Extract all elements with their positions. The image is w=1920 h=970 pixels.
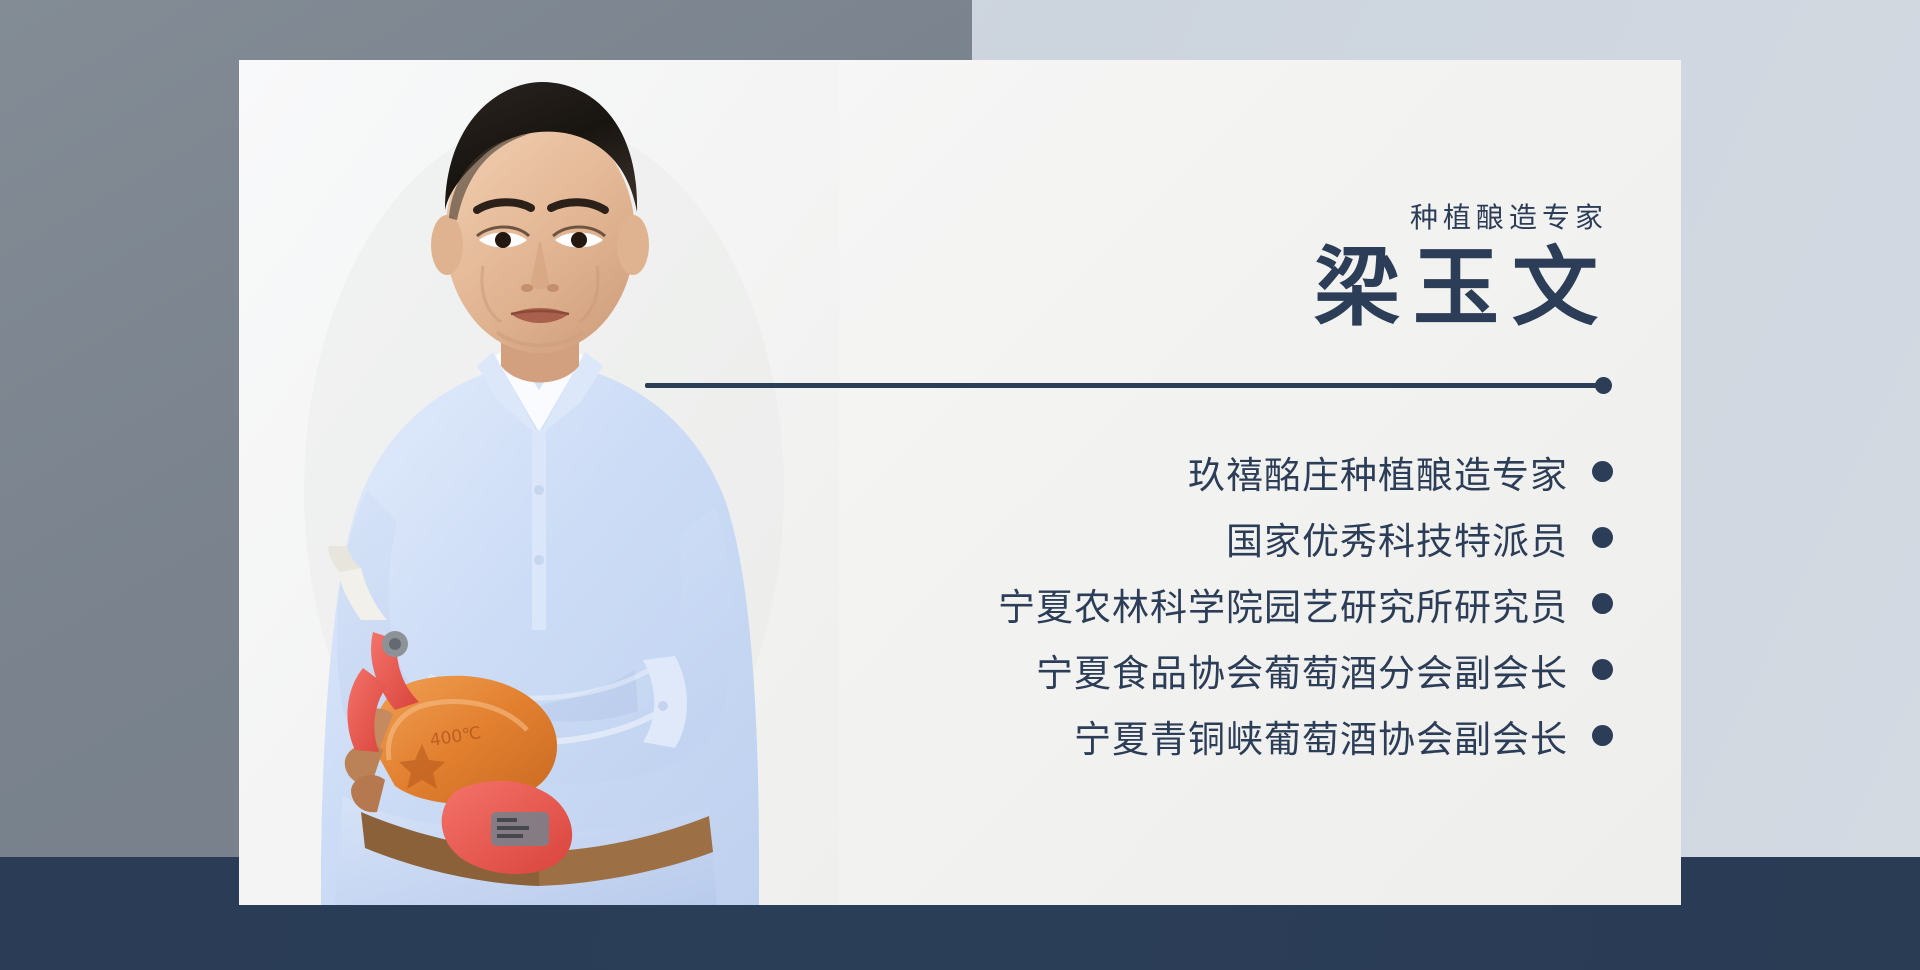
- bullet-dot-icon: [1592, 461, 1613, 482]
- poster-canvas: 400℃ 种植酿造专家 梁玉文: [0, 0, 1920, 970]
- list-item[interactable]: 宁夏食品协会葡萄酒分会副会长: [713, 643, 1613, 696]
- list-item[interactable]: 宁夏农林科学院园艺研究所研究员: [713, 577, 1613, 630]
- credential-label: 宁夏农林科学院园艺研究所研究员: [998, 577, 1568, 631]
- credential-label: 宁夏青铜峡葡萄酒协会副会长: [1074, 709, 1568, 763]
- expert-name: 梁玉文: [1314, 242, 1611, 335]
- bullet-dot-icon: [1592, 527, 1613, 548]
- bullet-dot-icon: [1592, 593, 1613, 614]
- list-item[interactable]: 宁夏青铜峡葡萄酒协会副会长: [713, 709, 1613, 762]
- bullet-dot-icon: [1592, 725, 1613, 746]
- profile-card: 400℃ 种植酿造专家 梁玉文: [239, 60, 1681, 905]
- list-item[interactable]: 玖禧酩庄种植酿造专家: [713, 445, 1613, 498]
- list-item[interactable]: 国家优秀科技特派员: [713, 511, 1613, 564]
- expert-subtitle: 种植酿造专家: [1410, 196, 1608, 236]
- divider-end-dot-icon: [1595, 377, 1612, 394]
- credentials-list: 玖禧酩庄种植酿造专家 国家优秀科技特派员 宁夏农林科学院园艺研究所研究员 宁夏食…: [713, 445, 1613, 762]
- credential-label: 玖禧酩庄种植酿造专家: [1188, 445, 1568, 499]
- bullet-dot-icon: [1592, 659, 1613, 680]
- credential-label: 宁夏食品协会葡萄酒分会副会长: [1036, 643, 1568, 697]
- credential-label: 国家优秀科技特派员: [1226, 511, 1568, 565]
